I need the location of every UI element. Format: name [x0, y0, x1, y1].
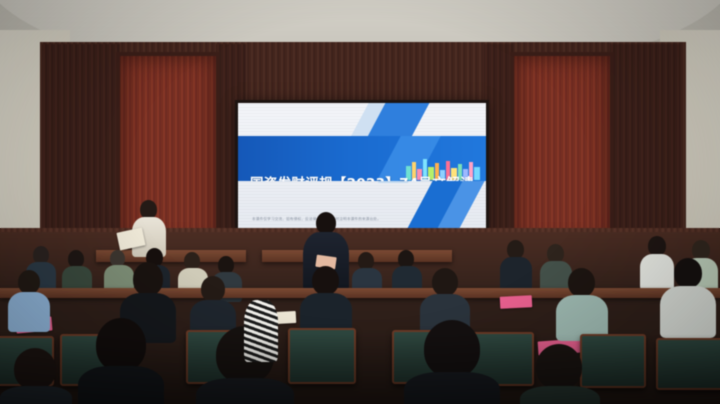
slat-section-left	[42, 44, 120, 254]
meeting-room-photo: 国资发财评规【2023】74号文解读 鸿翔会计师事务所 杨会芬 本课件仅学习交流…	[0, 0, 720, 404]
presenter-head	[316, 212, 336, 234]
audience-member	[660, 258, 716, 336]
audience-member-striped-shirt	[244, 300, 278, 362]
pink-document	[500, 295, 533, 309]
slide-title: 国资发财评规【2023】74号文解读	[250, 172, 480, 181]
chair	[288, 328, 356, 384]
audience-member	[520, 344, 600, 404]
mahogany-panel-right	[514, 56, 610, 246]
slide-title-band: 国资发财评规【2023】74号文解读 鸿翔会计师事务所 杨会芬	[238, 136, 486, 181]
audience-member	[556, 268, 608, 338]
audience-member	[8, 270, 50, 330]
slat-section-right	[610, 44, 680, 254]
chair	[656, 338, 720, 390]
slat-section-right-inner	[484, 44, 514, 254]
audience-member	[404, 320, 500, 404]
audience-member	[0, 348, 72, 404]
audience-member	[500, 240, 532, 288]
audience-member	[62, 250, 92, 292]
desk-row	[0, 288, 720, 298]
projection-screen: 国资发财评规【2023】74号文解读 鸿翔会计师事务所 杨会芬 本课件仅学习交流…	[238, 103, 486, 237]
audience-member	[300, 266, 352, 336]
slide-footnote: 本课件仅学习交流、如有侵权、反法律，请在转载时注明本课件的来源出处。	[252, 217, 472, 222]
audience-member	[78, 318, 164, 404]
